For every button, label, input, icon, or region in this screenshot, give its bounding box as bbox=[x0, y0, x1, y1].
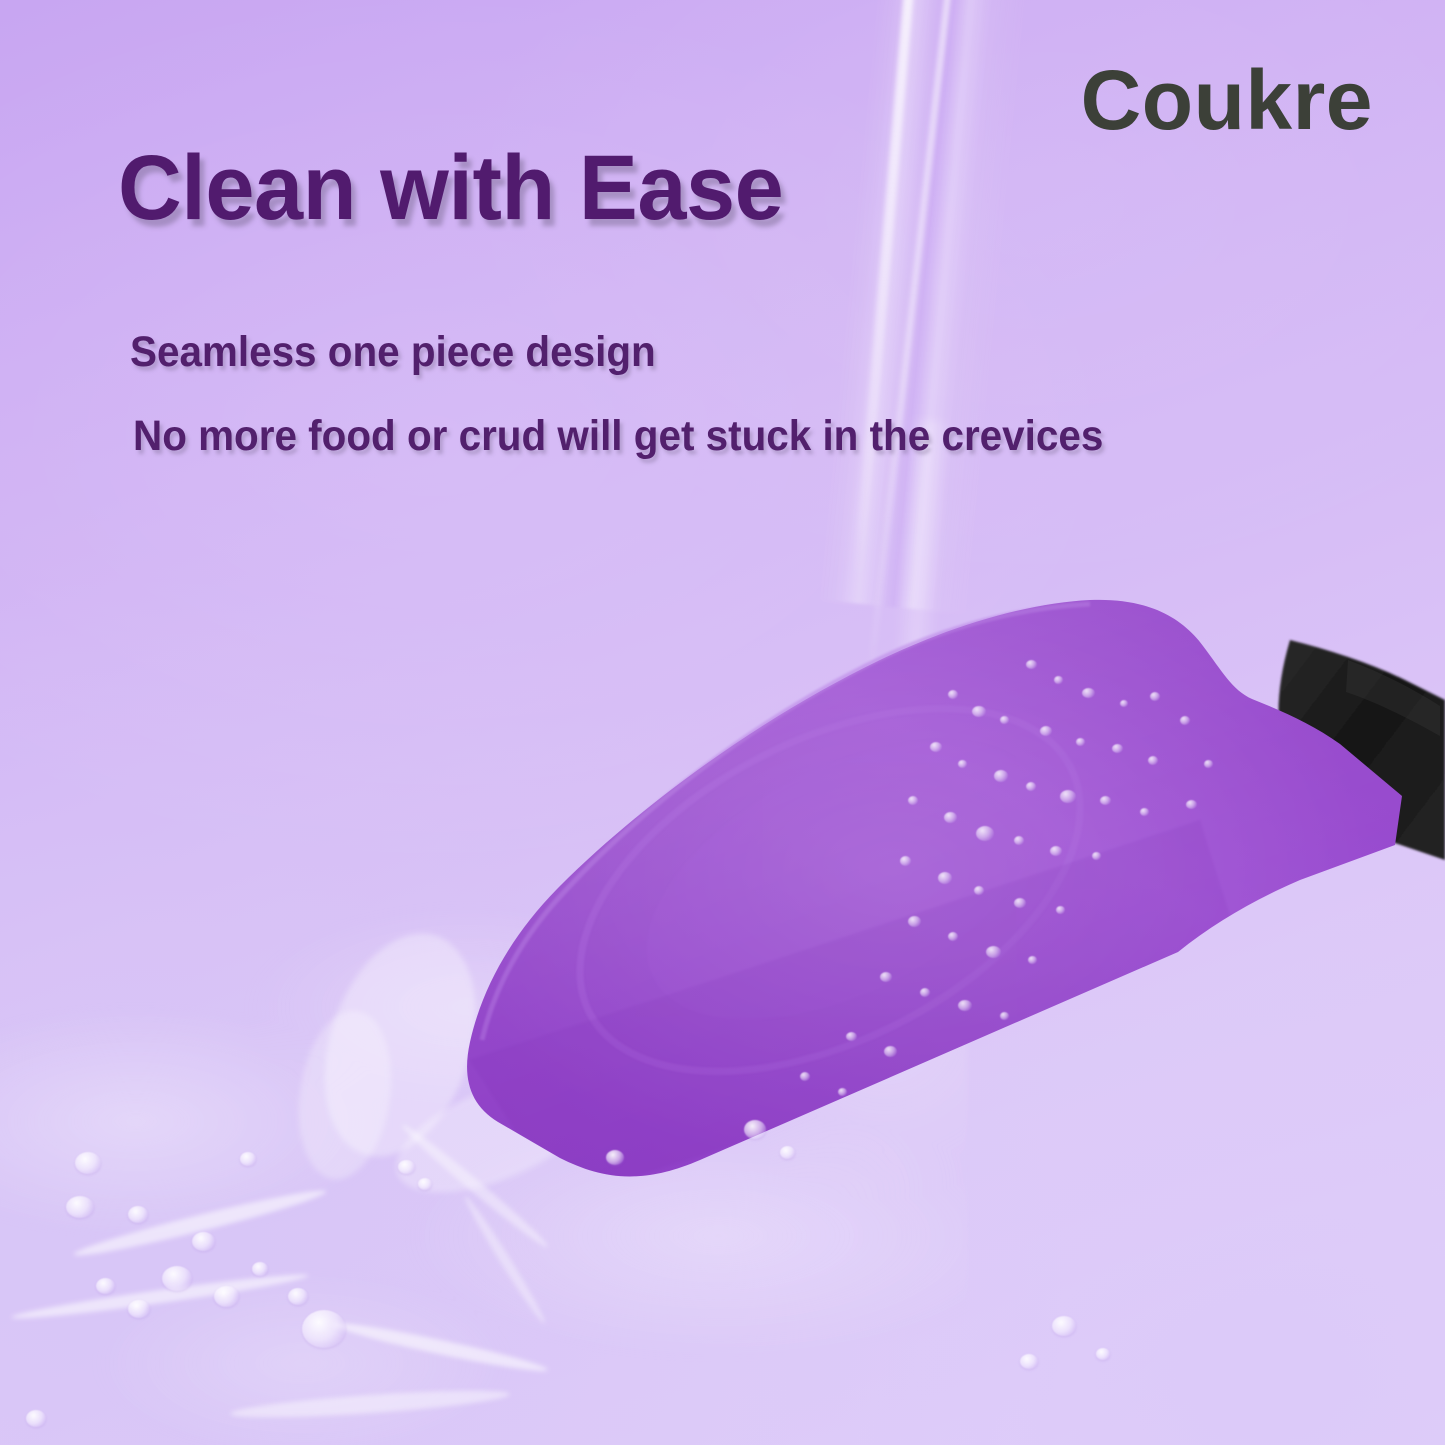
brand-logo: Coukre bbox=[1081, 58, 1373, 142]
background-water-droplet bbox=[398, 1160, 415, 1174]
water-droplet bbox=[1076, 738, 1085, 746]
subheading-seamless-design: Seamless one piece design bbox=[130, 328, 656, 377]
background-water-droplet bbox=[214, 1286, 239, 1307]
background-water-droplet bbox=[288, 1288, 308, 1305]
water-droplet bbox=[994, 770, 1008, 782]
water-droplet bbox=[1014, 898, 1026, 908]
water-droplet bbox=[948, 932, 958, 941]
water-droplet bbox=[1180, 716, 1190, 725]
background-water-droplet bbox=[252, 1262, 268, 1276]
water-droplet bbox=[1056, 906, 1065, 914]
water-droplet bbox=[1040, 726, 1052, 736]
water-droplet bbox=[972, 706, 986, 717]
water-droplet bbox=[1120, 700, 1128, 707]
background-water-droplet bbox=[128, 1300, 150, 1318]
background-water-droplet bbox=[66, 1196, 94, 1218]
background-water-droplet bbox=[128, 1206, 148, 1223]
background-water-droplet bbox=[1020, 1354, 1038, 1369]
water-droplet bbox=[958, 1000, 972, 1011]
background-water-droplet bbox=[606, 1150, 624, 1165]
background-water-droplet bbox=[1096, 1348, 1110, 1360]
water-droplet bbox=[1150, 692, 1160, 701]
water-droplet bbox=[974, 886, 984, 895]
water-droplet bbox=[846, 1032, 857, 1041]
water-droplet bbox=[800, 1072, 810, 1081]
water-droplet bbox=[948, 690, 958, 699]
background-water-droplet bbox=[780, 1146, 795, 1159]
water-droplet bbox=[920, 988, 930, 997]
water-droplet bbox=[838, 1088, 847, 1096]
water-droplet bbox=[900, 856, 911, 866]
water-droplet bbox=[1028, 956, 1037, 964]
background-water-droplet bbox=[162, 1266, 192, 1291]
water-droplet bbox=[938, 872, 952, 884]
water-droplet bbox=[944, 812, 957, 823]
water-droplet bbox=[958, 760, 967, 768]
background-water-droplet bbox=[1052, 1316, 1076, 1336]
water-droplet bbox=[884, 1046, 897, 1057]
water-droplet bbox=[1092, 852, 1101, 860]
water-droplet bbox=[1148, 756, 1158, 765]
water-droplet bbox=[1014, 836, 1024, 845]
water-droplet bbox=[1000, 1012, 1009, 1020]
background-water-droplet bbox=[418, 1178, 432, 1190]
background-water-droplet bbox=[192, 1232, 215, 1251]
water-droplet bbox=[1112, 744, 1123, 753]
background-water-droplet bbox=[75, 1152, 101, 1174]
water-droplet bbox=[1060, 790, 1076, 803]
water-droplet bbox=[1140, 808, 1149, 816]
background-water-droplet bbox=[96, 1278, 115, 1294]
water-droplet bbox=[1054, 676, 1063, 684]
water-droplet bbox=[986, 946, 1001, 958]
water-droplet bbox=[1026, 660, 1037, 669]
background-water-droplet bbox=[302, 1310, 346, 1348]
background-water-droplet bbox=[240, 1152, 256, 1166]
water-droplet bbox=[908, 796, 918, 805]
water-droplet bbox=[908, 916, 921, 927]
water-droplet bbox=[1186, 800, 1197, 809]
water-droplet bbox=[1050, 846, 1062, 856]
subheading-no-crevices: No more food or crud will get stuck in t… bbox=[133, 412, 1103, 461]
headline-title: Clean with Ease bbox=[118, 142, 783, 234]
water-droplet bbox=[976, 826, 994, 841]
water-droplet bbox=[1100, 796, 1111, 805]
product-marketing-image: Coukre Clean with Ease Seamless one piec… bbox=[0, 0, 1445, 1445]
background-water-droplet bbox=[744, 1120, 766, 1139]
water-droplet bbox=[930, 742, 942, 752]
water-droplet bbox=[1000, 716, 1009, 724]
water-droplet bbox=[1026, 782, 1036, 791]
water-droplet bbox=[880, 972, 892, 982]
water-droplet bbox=[1204, 760, 1213, 768]
background-water-droplet bbox=[26, 1410, 46, 1427]
water-droplet bbox=[1082, 688, 1095, 698]
